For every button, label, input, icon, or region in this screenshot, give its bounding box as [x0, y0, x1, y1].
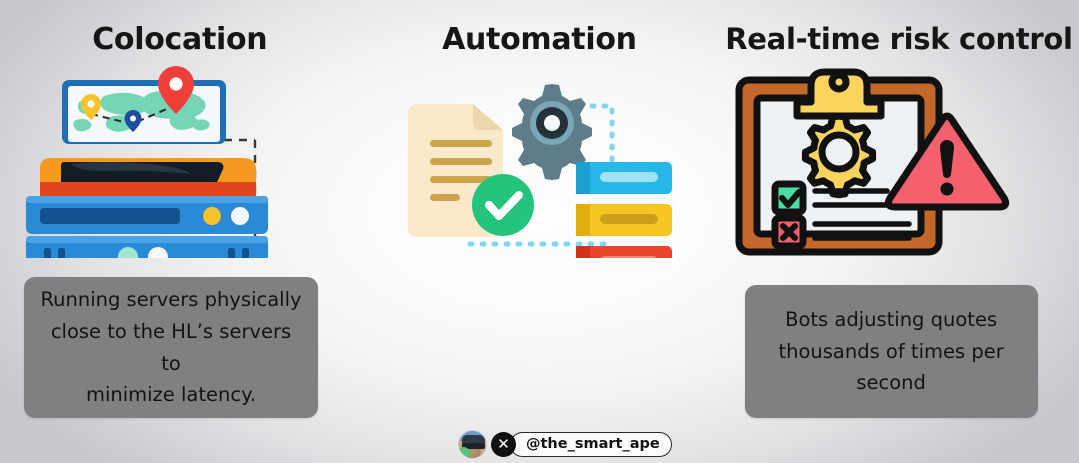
heading-risk-control: Real-time risk control — [719, 22, 1079, 56]
checkbox-crossed-icon — [775, 218, 803, 246]
illustration-colocation — [0, 58, 360, 258]
x-logo-icon[interactable]: ✕ — [491, 432, 516, 457]
heading-colocation: Colocation — [0, 22, 360, 57]
column-automation: Automation — [360, 0, 720, 463]
caption-line: close to the HL’s servers to — [38, 316, 304, 379]
check-circle-icon — [472, 174, 534, 236]
server-unit-bottom-icon — [26, 236, 268, 258]
workflow-bar-red-icon — [576, 246, 672, 258]
gear-yellow-icon — [806, 116, 873, 195]
workflow-bar-yellow-icon — [576, 204, 672, 236]
server-unit-top-icon — [26, 196, 268, 234]
avatar — [458, 430, 487, 459]
illustration-risk-control — [719, 58, 1079, 258]
laptop-base-icon — [40, 158, 256, 202]
caption-line: Running servers physically — [38, 284, 304, 316]
infographic-canvas: Colocation — [0, 0, 1079, 463]
illustration-automation — [360, 58, 720, 258]
column-risk-control: Real-time risk control — [719, 0, 1079, 463]
caption-line: minimize latency. — [38, 379, 304, 411]
clipboard-clip-icon — [797, 72, 881, 116]
avatar-accent — [458, 447, 470, 459]
heading-automation: Automation — [360, 22, 720, 57]
checkbox-checked-icon — [775, 184, 803, 212]
workflow-bar-cyan-icon — [576, 162, 672, 194]
column-colocation: Colocation — [0, 0, 360, 463]
footer-attribution[interactable]: ✕ @the_smart_ape — [458, 429, 672, 459]
handle-label[interactable]: @the_smart_ape — [510, 432, 672, 457]
laptop-screen-icon — [62, 66, 226, 144]
caption-colocation: Running servers physically close to the … — [24, 277, 318, 418]
